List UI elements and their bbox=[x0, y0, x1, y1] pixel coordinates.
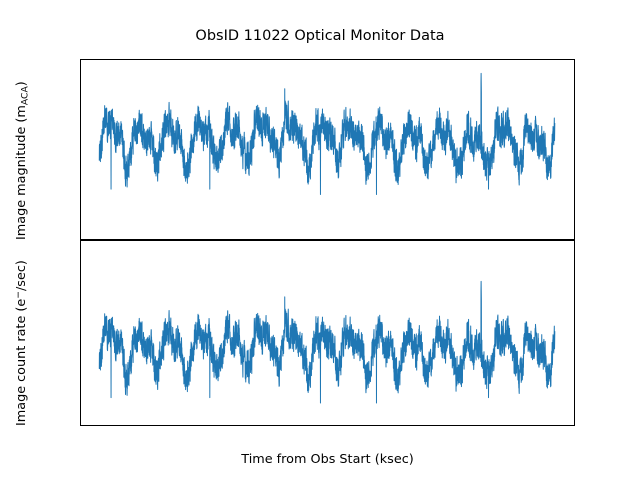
y-axis-label-magnitude-subscript: ACA bbox=[19, 86, 30, 105]
x-tick-mark bbox=[281, 425, 282, 426]
x-tick-mark bbox=[103, 425, 104, 426]
axes-image-magnitude: 9.089.109.129.14 bbox=[80, 59, 575, 240]
y-axis-label-count-rate-superscript: − bbox=[13, 291, 24, 299]
y-axis-label-magnitude-close: ) bbox=[14, 81, 29, 86]
image-magnitude-line-plot bbox=[81, 60, 574, 239]
x-tick-mark bbox=[399, 425, 400, 426]
x-tick-mark bbox=[459, 425, 460, 426]
data-line bbox=[99, 281, 555, 403]
y-axis-label-count-rate-text: Image count rate (e bbox=[14, 299, 29, 426]
matplotlib-figure: ObsID 11022 Optical Monitor Data 9.089.1… bbox=[0, 0, 640, 480]
y-axis-label-count-rate: Image count rate (e−/sec) bbox=[14, 260, 29, 426]
image-count-rate-line-plot bbox=[81, 241, 574, 425]
y-axis-label-count-rate-close: /sec) bbox=[14, 260, 29, 291]
x-tick-mark bbox=[518, 425, 519, 426]
figure-title: ObsID 11022 Optical Monitor Data bbox=[0, 28, 640, 44]
x-tick-mark bbox=[222, 425, 223, 426]
axes-image-count-rate: 157501600016250165001675002468101214 bbox=[80, 240, 575, 426]
x-axis-label: Time from Obs Start (ksec) bbox=[80, 452, 575, 467]
x-tick-mark bbox=[163, 425, 164, 426]
data-line bbox=[99, 73, 555, 194]
y-axis-label-magnitude: Image magnitude (mACA) bbox=[14, 81, 29, 240]
x-tick-mark bbox=[340, 425, 341, 426]
y-axis-label-magnitude-text: Image magnitude (m bbox=[14, 105, 29, 240]
